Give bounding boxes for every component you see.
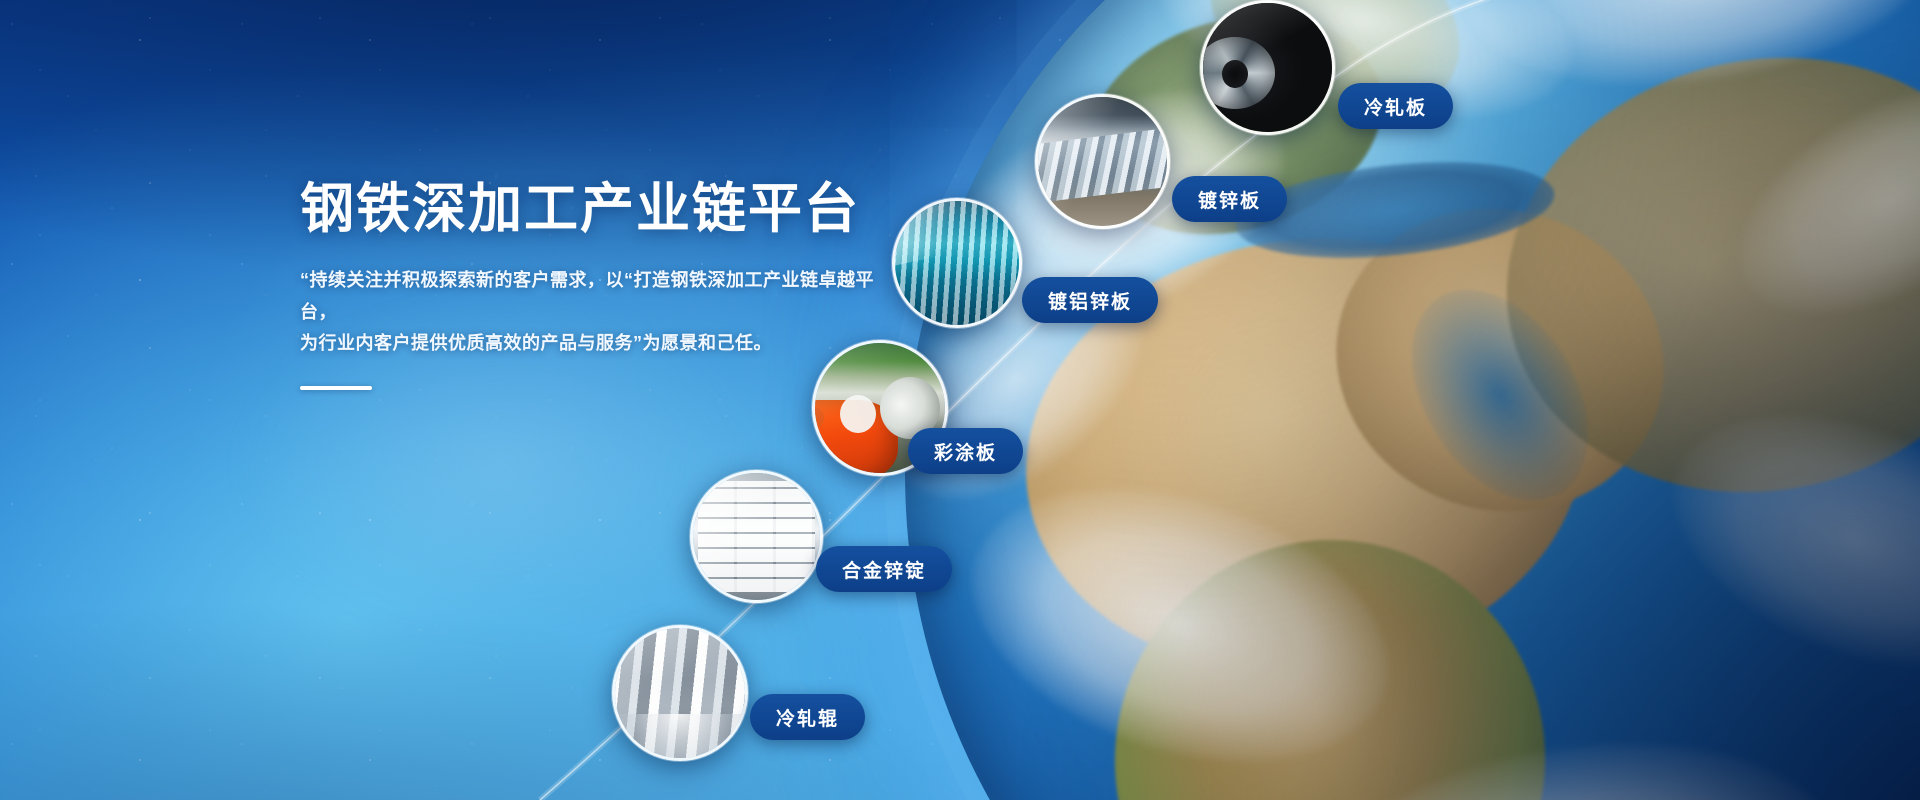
product-label-zinc-alloy-ingot[interactable]: 合金锌锭: [816, 546, 952, 592]
subtitle-line-1: “持续关注并积极探索新的客户需求，以“打造钢铁深加工产业链卓越平台，: [300, 265, 900, 328]
hero-banner: 钢铁深加工产业链平台 “持续关注并积极探索新的客户需求，以“打造钢铁深加工产业链…: [0, 0, 1920, 800]
cold-rolling-roll-photo[interactable]: [612, 625, 748, 761]
thumbnail-artwork: [1038, 97, 1167, 226]
thumbnail-artwork: [895, 201, 1019, 325]
product-label-galvanized-plate[interactable]: 镀锌板: [1172, 176, 1287, 222]
thumbnail-artwork: [615, 628, 745, 758]
subtitle-line-2: 为行业内客户提供优质高效的产品与服务”为愿景和己任。: [300, 328, 900, 360]
hero-copy: 钢铁深加工产业链平台 “持续关注并积极探索新的客户需求，以“打造钢铁深加工产业链…: [300, 180, 900, 390]
cold-rolled-coil-photo[interactable]: [1200, 0, 1335, 135]
product-label-cold-rolled-plate[interactable]: 冷轧板: [1338, 83, 1453, 129]
hero-subtitle: “持续关注并积极探索新的客户需求，以“打造钢铁深加工产业链卓越平台， 为行业内客…: [300, 265, 900, 360]
product-label-aluzinc-plate[interactable]: 镀铝锌板: [1022, 277, 1158, 323]
title-divider: [300, 386, 372, 390]
product-label-color-coated-plate[interactable]: 彩涂板: [908, 428, 1023, 474]
product-label-cold-rolling-roll[interactable]: 冷轧辊: [750, 694, 865, 740]
aluzinc-sheet-photo[interactable]: [892, 198, 1022, 328]
zinc-alloy-ingot-photo[interactable]: [690, 470, 823, 603]
page-title: 钢铁深加工产业链平台: [300, 180, 900, 239]
galvanized-sheet-photo[interactable]: [1035, 94, 1170, 229]
thumbnail-artwork: [1203, 3, 1332, 132]
thumbnail-artwork: [693, 473, 820, 600]
